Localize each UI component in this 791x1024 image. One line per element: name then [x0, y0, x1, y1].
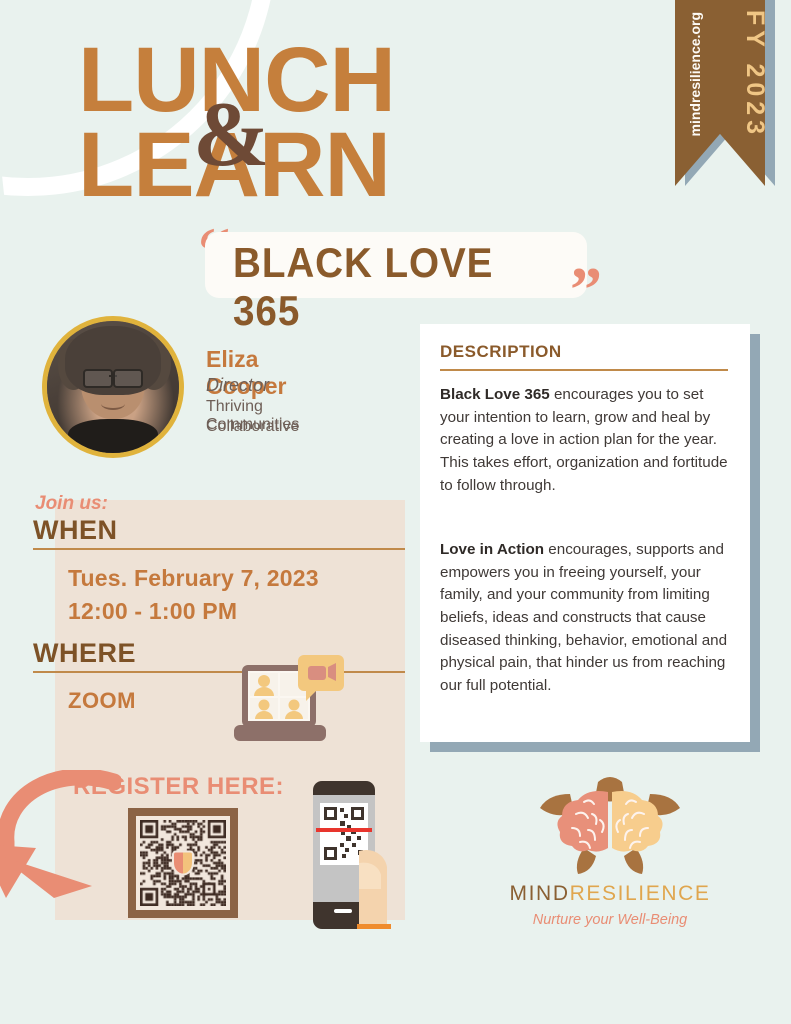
- session-title-card: BLACK LOVE 365: [205, 232, 587, 298]
- where-label: WHERE: [33, 638, 136, 669]
- glasses-icon: [83, 369, 144, 385]
- join-us-label: Join us:: [35, 493, 108, 515]
- title-line-lunch: LUNCH: [78, 38, 528, 123]
- description-p2-text: encourages, supports and empowers you in…: [440, 541, 727, 694]
- turtle-brain-icon: [499, 772, 721, 882]
- where-rule: [33, 671, 405, 673]
- description-p1-bold: Black Love 365: [440, 386, 550, 403]
- event-date: Tues. February 7, 2023: [68, 565, 319, 592]
- when-rule: [33, 548, 405, 550]
- video-call-illustration: [228, 655, 346, 767]
- description-heading: DESCRIPTION: [440, 342, 562, 362]
- when-label: WHEN: [33, 515, 118, 546]
- description-paragraph-1: Black Love 365 encourages you to set you…: [440, 384, 730, 497]
- title-line-learn: LEARN: [78, 123, 528, 208]
- phone-scanning-qr-illustration: [313, 781, 391, 929]
- event-location: ZOOM: [68, 688, 136, 714]
- brand-name-resilience: RESILIENCE: [570, 882, 711, 905]
- description-panel: DESCRIPTION Black Love 365 encourages yo…: [420, 324, 750, 742]
- brand-tagline: Nurture your Well-Being: [499, 912, 721, 928]
- avatar: [42, 316, 184, 458]
- ribbon-fiscal-year: FY 2023: [740, 10, 769, 139]
- title-ampersand: &: [193, 88, 270, 180]
- ribbon-website-url: mindresilience.org: [687, 12, 703, 136]
- event-time: 12:00 - 1:00 PM: [68, 598, 237, 625]
- session-title: BLACK LOVE 365: [233, 239, 559, 335]
- description-p2-bold: Love in Action: [440, 541, 544, 558]
- description-rule: [440, 369, 728, 371]
- speaker-role: Director: [206, 375, 269, 396]
- close-quote-icon: ”: [570, 258, 602, 322]
- page-title: LUNCH LEARN: [78, 38, 528, 207]
- brand-logo: MINDRESILIENCE Nurture your Well-Being: [499, 772, 721, 932]
- brand-name: MINDRESILIENCE: [499, 882, 721, 906]
- speaker-org-line2: Collaborative: [206, 418, 299, 436]
- qr-center-logo: [172, 851, 194, 876]
- corner-ribbon: FY 2023 mindresilience.org: [675, 0, 775, 190]
- curved-arrow-icon: [0, 770, 121, 898]
- brand-name-mind: MIND: [510, 882, 570, 905]
- qr-code[interactable]: [128, 808, 238, 918]
- flyer-page: FY 2023 mindresilience.org LUNCH LEARN &…: [0, 0, 791, 1024]
- description-paragraph-2: Love in Action encourages, supports and …: [440, 539, 730, 697]
